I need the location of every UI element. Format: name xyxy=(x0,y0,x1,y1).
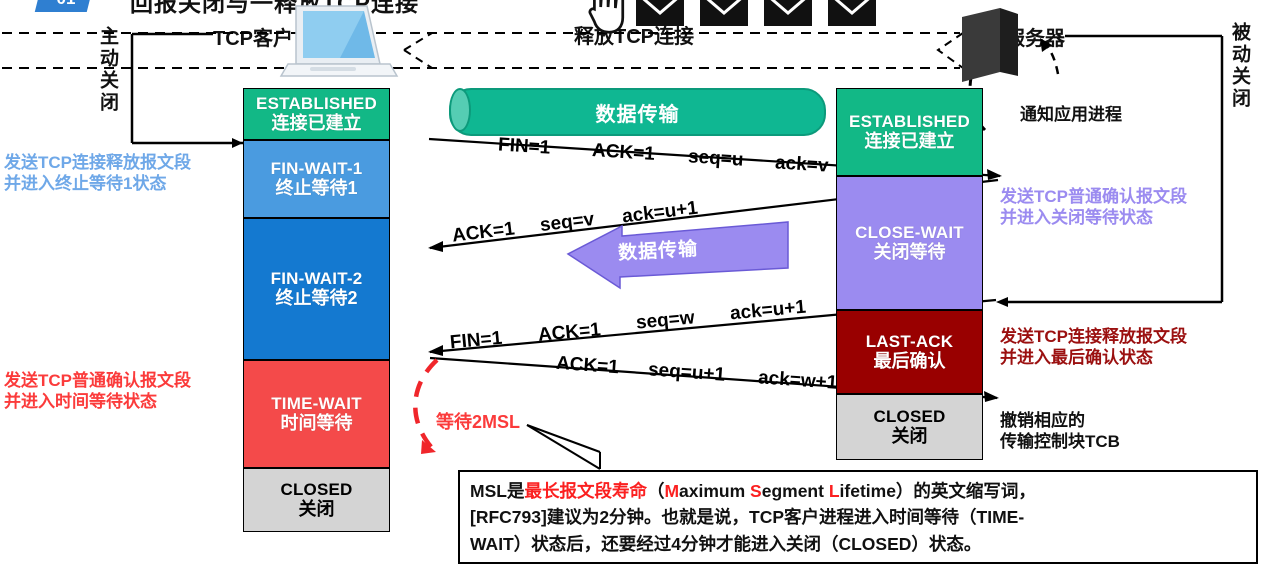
client-state-fin-wait-1[interactable]: FIN-WAIT-1 终止等待1 xyxy=(243,140,390,218)
message-label-fin1-ackno: ack=v xyxy=(774,152,829,177)
server-state-close-wait[interactable]: CLOSE-WAIT 关闭等待 xyxy=(836,176,983,310)
wait-2msl-label: 等待2MSL xyxy=(436,408,520,434)
passive-close-arrowhead xyxy=(996,297,1008,307)
msl-l1-l: L xyxy=(829,481,840,501)
msl-l1-a: MSL是 xyxy=(470,481,524,501)
msl-l1-red: 最长报文段寿命 xyxy=(524,481,647,501)
pipe-label: 数据传输 xyxy=(596,98,680,127)
state-cn: 终止等待1 xyxy=(275,178,357,198)
msl-l1-e: ifetime）的英文缩写词， xyxy=(840,481,1036,501)
state-cn: 关闭 xyxy=(299,499,335,519)
state-en: TIME-WAIT xyxy=(271,394,362,413)
state-cn: 连接已建立 xyxy=(272,113,362,133)
annotation-left-bottom: 发送TCP普通确认报文段 并进入时间等待状态 xyxy=(4,370,191,413)
message-label-ack2-ack: ACK=1 xyxy=(555,353,619,379)
state-cn: 终止等待2 xyxy=(275,288,357,308)
state-cn: 连接已建立 xyxy=(865,131,955,151)
state-cn: 关闭等待 xyxy=(874,242,946,262)
state-cn: 关闭 xyxy=(892,426,928,446)
server-state-closed[interactable]: CLOSED 关闭 xyxy=(836,394,983,460)
msl-line-2: [RFC793]建议为2分钟。也就是说，TCP客户进程进入时间等待（TIME- xyxy=(470,504,1246,530)
active-close-arrowhead xyxy=(232,138,243,148)
message-label-fin2-flag: FIN=1 xyxy=(449,328,503,355)
state-cn: 时间等待 xyxy=(281,413,353,433)
pipe-cap xyxy=(449,88,471,132)
message-label-fin1-seq: seq=u xyxy=(687,146,744,171)
msl-l1-c: aximum xyxy=(679,481,750,501)
annotation-right-bottom: 撤销相应的 传输控制块TCB xyxy=(1000,410,1120,453)
annotation-right-mid: 发送TCP连接释放报文段 并进入最后确认状态 xyxy=(1000,326,1187,369)
wait-2msl-arc xyxy=(415,360,437,448)
state-en: ESTABLISHED xyxy=(256,94,377,113)
client-state-closed[interactable]: CLOSED 关闭 xyxy=(243,468,390,532)
envelope-icon-3 xyxy=(764,0,812,26)
server-state-established[interactable]: ESTABLISHED 连接已建立 xyxy=(836,88,983,176)
state-en: CLOSED xyxy=(280,480,352,499)
slide-canvas: 01 回报关闭与一释放TCP连接 TCP客户 TCP服务器 释放TCP连接 主动… xyxy=(0,0,1270,576)
hand-icon xyxy=(590,0,623,32)
laptop-icon xyxy=(281,6,397,76)
state-en: CLOSED xyxy=(873,407,945,426)
server-state-last-ack[interactable]: LAST-ACK 最后确认 xyxy=(836,310,983,394)
envelope-icon-2 xyxy=(700,0,748,26)
client-state-fin-wait-2[interactable]: FIN-WAIT-2 终止等待2 xyxy=(243,218,390,360)
server-icon xyxy=(962,0,1018,82)
purple-arrow-label: 数据传输 xyxy=(617,234,698,265)
message-label-fin1-ack: ACK=1 xyxy=(591,140,655,166)
client-state-time-wait[interactable]: TIME-WAIT 时间等待 xyxy=(243,360,390,468)
data-transmission-pipe: 数据传输 xyxy=(449,88,826,136)
msl-l1-b: （ xyxy=(647,481,665,501)
msl-l1-d: egment xyxy=(762,481,829,501)
state-en: LAST-ACK xyxy=(866,332,954,351)
client-state-established[interactable]: ESTABLISHED 连接已建立 xyxy=(243,88,390,140)
msl-l1-m: M xyxy=(664,481,679,501)
msl-line-3: WAIT）状态后，还要经过4分钟才能进入关闭（CLOSED）状态。 xyxy=(470,531,1246,557)
annotation-left-top: 发送TCP连接释放报文段 并进入终止等待1状态 xyxy=(4,152,191,195)
msl-line-1: MSL是最长报文段寿命（Maximum Segment Lifetime）的英文… xyxy=(470,478,1246,504)
message-label-fin1-flag: FIN=1 xyxy=(497,134,551,159)
annotation-right-top: 发送TCP普通确认报文段 并进入关闭等待状态 xyxy=(1000,186,1187,229)
state-en: CLOSE-WAIT xyxy=(855,223,964,242)
state-en: ESTABLISHED xyxy=(849,112,970,131)
state-en: FIN-WAIT-1 xyxy=(271,159,363,178)
envelope-icon-4 xyxy=(828,0,876,26)
state-en: FIN-WAIT-2 xyxy=(271,269,363,288)
envelope-icon-1 xyxy=(636,0,684,26)
state-cn: 最后确认 xyxy=(874,351,946,371)
msl-explanation-box: MSL是最长报文段寿命（Maximum Segment Lifetime）的英文… xyxy=(458,470,1258,564)
msl-l1-s: S xyxy=(750,481,762,501)
